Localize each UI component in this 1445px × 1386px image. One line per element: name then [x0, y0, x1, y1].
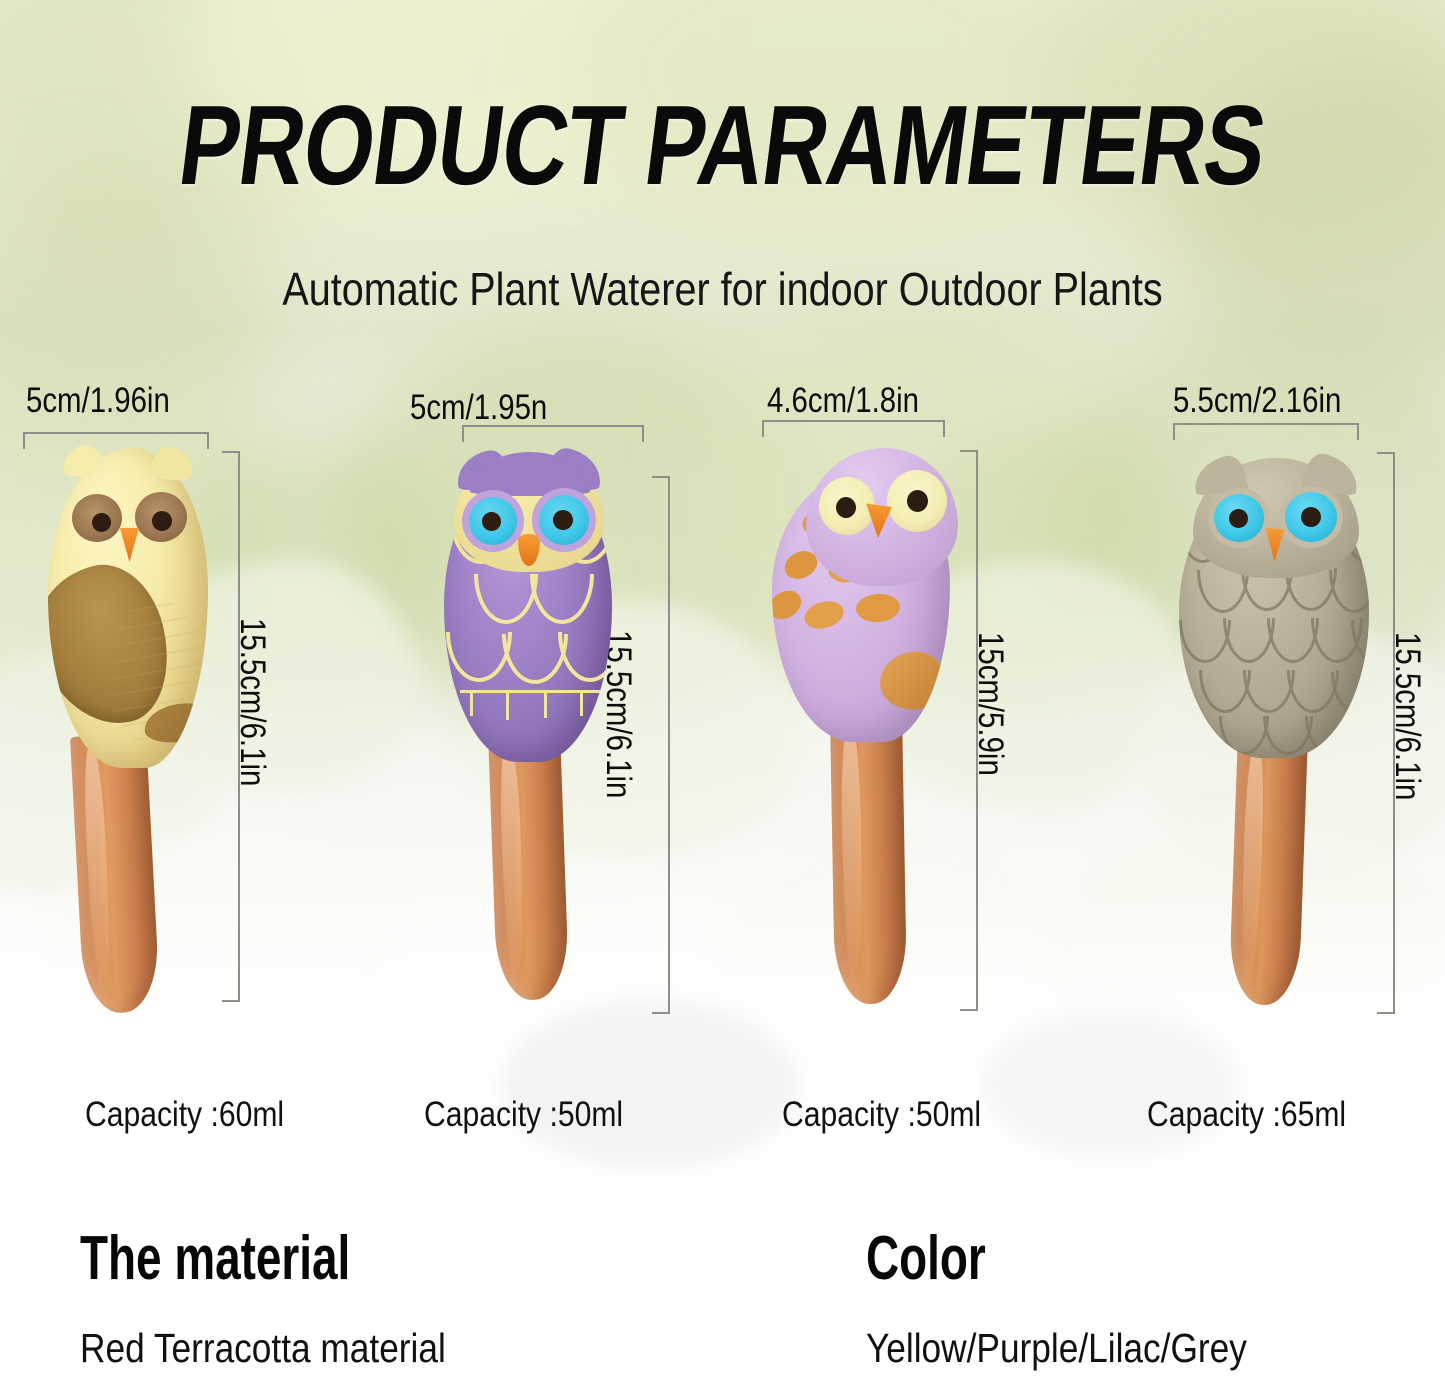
owl-pupil-right: [553, 510, 573, 530]
material-heading: The material: [80, 1226, 395, 1291]
terracotta-stem: [70, 733, 160, 1015]
owl-figure-purple: [362, 0, 724, 1386]
product-column-lilac: 4.6cm/1.8in 15cm/5.9in: [724, 0, 1086, 1386]
color-heading: Color: [866, 1226, 1194, 1291]
capacity-label: Capacity :50ml: [782, 1095, 981, 1135]
material-value: Red Terracotta material: [80, 1325, 446, 1372]
owl-pupil-left: [1229, 509, 1248, 528]
owl-pupil-right: [1301, 507, 1321, 527]
owl-pupil-left: [482, 512, 501, 531]
product-parameters-infographic: PRODUCT PARAMETERS Automatic Plant Water…: [0, 0, 1445, 1386]
capacity-label: Capacity :50ml: [424, 1095, 623, 1135]
owl-pupil-left: [92, 513, 111, 532]
owl-pupil-right: [152, 511, 172, 531]
owl-pupil-left: [836, 497, 856, 518]
owl-figure-grey: [1083, 0, 1445, 1386]
capacity-label: Capacity :65ml: [1147, 1095, 1346, 1135]
color-value: Yellow/Purple/Lilac/Grey: [866, 1325, 1247, 1372]
footer-material-block: The material Red Terracotta material: [80, 1226, 505, 1372]
owl-body: [48, 448, 208, 768]
capacity-label: Capacity :60ml: [85, 1095, 284, 1135]
owl-figure-yellow: [0, 0, 362, 1386]
owl-pupil-right: [907, 490, 928, 512]
product-column-grey: 5.5cm/2.16in 15.5cm/6.1in: [1083, 0, 1445, 1386]
owl-foot: [875, 646, 950, 716]
terracotta-stem: [488, 729, 569, 1001]
terracotta-stem: [1229, 732, 1308, 1006]
footer-color-block: Color Yellow/Purple/Lilac/Grey: [866, 1226, 1309, 1372]
owl-spot: [801, 597, 847, 633]
product-column-purple: 5cm/1.95n 15.5cm/6.1in: [362, 0, 724, 1386]
product-column-yellow: 5cm/1.96in 15.5cm/6.1in: [0, 0, 362, 1386]
owl-spot: [855, 592, 901, 623]
owl-figure-lilac: [724, 0, 1086, 1386]
owl-spot: [772, 585, 806, 625]
terracotta-stem: [830, 711, 907, 1004]
